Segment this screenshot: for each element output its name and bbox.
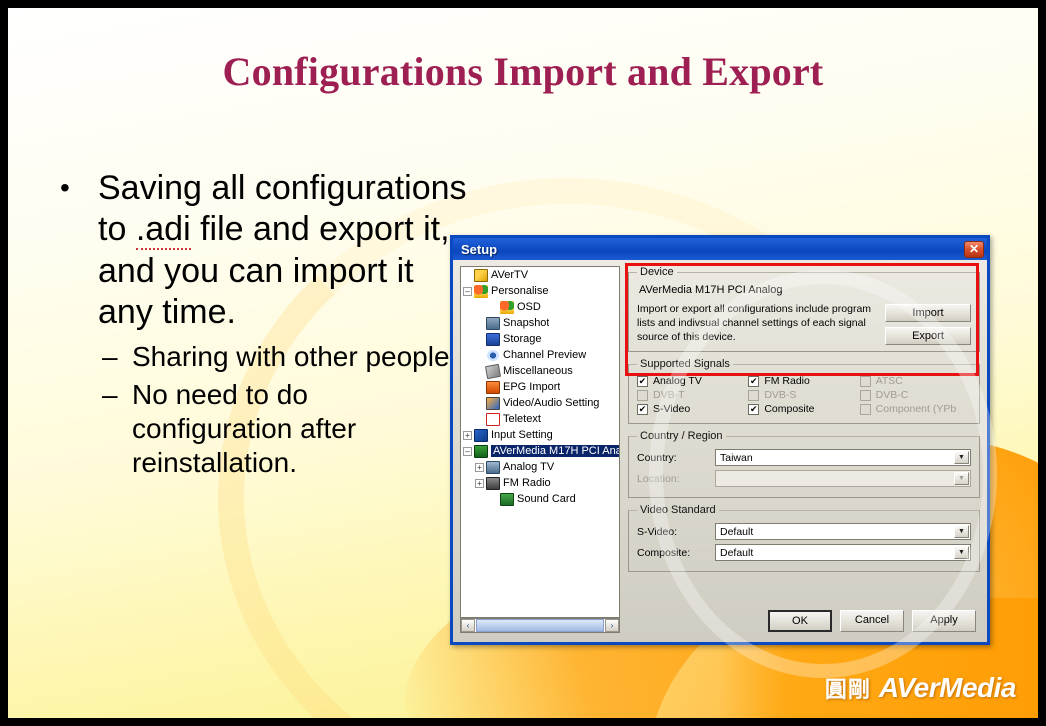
signal-label: Composite xyxy=(764,403,814,415)
sub-bullet-text: No need to do configuration after reinst… xyxy=(132,378,470,480)
signal-checkbox-component-ypb: Component (YPb xyxy=(860,403,971,415)
tree-item-storage[interactable]: Storage xyxy=(461,331,619,347)
signal-row: DVB-TDVB-SDVB-C xyxy=(637,389,971,401)
tree-item-epg-import[interactable]: EPG Import xyxy=(461,379,619,395)
signal-label: ATSC xyxy=(876,375,903,387)
location-select: ▼ xyxy=(715,470,971,487)
bullet-marker: • xyxy=(60,168,98,334)
input-setting-icon xyxy=(474,429,488,442)
personalise-icon xyxy=(474,285,488,298)
signal-row: ✔S-Video✔CompositeComponent (YPb xyxy=(637,403,971,415)
checkbox-icon[interactable]: ✔ xyxy=(748,376,759,387)
signal-checkbox-fm-radio[interactable]: ✔FM Radio xyxy=(748,375,859,387)
checkbox-icon xyxy=(860,404,871,415)
signal-label: DVB-T xyxy=(653,389,685,401)
scrollbar-thumb[interactable] xyxy=(476,619,604,632)
device-group: Device AVerMedia M17H PCI Analog Import … xyxy=(628,266,980,352)
slide-title: Configurations Import and Export xyxy=(8,50,1038,94)
video-standard-legend: Video Standard xyxy=(637,504,719,516)
sub-bullet-item: – No need to do configuration after rein… xyxy=(102,378,470,480)
signal-row: ✔Analog TV✔FM RadioATSC xyxy=(637,375,971,387)
tree-item-label: Storage xyxy=(503,333,542,345)
scroll-right-icon[interactable]: › xyxy=(605,619,619,632)
device-row: Import or export all configurations incl… xyxy=(637,302,971,345)
dialog-footer-buttons: OK Cancel Apply xyxy=(768,610,976,632)
tree-item-label: AVerTV xyxy=(491,269,528,281)
composite-label: Composite: xyxy=(637,547,715,559)
country-select[interactable]: Taiwan ▼ xyxy=(715,449,971,466)
tree-item-analog-tv[interactable]: +Analog TV xyxy=(461,459,619,475)
location-label: Location: xyxy=(637,473,715,485)
signal-label: FM Radio xyxy=(764,375,810,387)
tree-item-avermedia-m17h-pci-analo[interactable]: –AVerMedia M17H PCI Analo xyxy=(461,443,619,459)
device-description: Import or export all configurations incl… xyxy=(637,302,875,345)
dialog-titlebar[interactable]: Setup ✕ xyxy=(453,238,987,260)
miscellaneous-icon xyxy=(485,363,501,378)
checkbox-icon[interactable]: ✔ xyxy=(637,376,648,387)
snapshot-icon xyxy=(486,317,500,330)
composite-row: Composite: Default ▼ xyxy=(637,544,971,561)
settings-panel: Device AVerMedia M17H PCI Analog Import … xyxy=(628,266,980,636)
tree-item-label: EPG Import xyxy=(503,381,560,393)
apply-button[interactable]: Apply xyxy=(912,610,976,632)
svideo-value: Default xyxy=(720,526,753,538)
signal-label: DVB-C xyxy=(876,389,909,401)
tree-expander-toggle[interactable]: + xyxy=(475,479,484,488)
tree-item-video-audio-setting[interactable]: Video/Audio Setting xyxy=(461,395,619,411)
tree-item-label: Channel Preview xyxy=(503,349,586,361)
tree-item-label: OSD xyxy=(517,301,541,313)
ok-button[interactable]: OK xyxy=(768,610,832,632)
composite-select[interactable]: Default ▼ xyxy=(715,544,971,561)
device-card-icon xyxy=(474,445,488,458)
bullet-text: Saving all configurations to .adi file a… xyxy=(98,168,470,334)
teletext-icon xyxy=(486,413,500,426)
tree-item-input-setting[interactable]: +Input Setting xyxy=(461,427,619,443)
chevron-down-icon[interactable]: ▼ xyxy=(954,451,969,464)
sub-bullet-text: Sharing with other people xyxy=(132,340,470,374)
import-button[interactable]: Import xyxy=(885,304,971,322)
svideo-label: S-Video: xyxy=(637,526,715,538)
tree-item-label: Teletext xyxy=(503,413,541,425)
tree-item-label: FM Radio xyxy=(503,477,551,489)
storage-icon xyxy=(486,333,500,346)
country-row: Country: Taiwan ▼ xyxy=(637,449,971,466)
tree-item-snapshot[interactable]: Snapshot xyxy=(461,315,619,331)
video-standard-group: Video Standard S-Video: Default ▼ Compos… xyxy=(628,504,980,572)
bullet-item: • Saving all configurations to .adi file… xyxy=(60,168,470,334)
sub-bullet-item: – Sharing with other people xyxy=(102,340,470,374)
dialog-title: Setup xyxy=(461,242,964,257)
tree-expander-toggle[interactable]: – xyxy=(463,447,472,456)
chevron-down-icon: ▼ xyxy=(954,472,969,485)
country-value: Taiwan xyxy=(720,452,753,464)
channel-preview-icon xyxy=(486,349,500,362)
cancel-button[interactable]: Cancel xyxy=(840,610,904,632)
tree-item-avertv[interactable]: AVerTV xyxy=(461,267,619,283)
signal-checkbox-atsc: ATSC xyxy=(860,375,971,387)
country-label: Country: xyxy=(637,452,715,464)
svideo-row: S-Video: Default ▼ xyxy=(637,523,971,540)
device-name: AVerMedia M17H PCI Analog xyxy=(639,284,971,296)
logo-wordmark: AVerMedia xyxy=(879,672,1016,704)
tree-item-channel-preview[interactable]: Channel Preview xyxy=(461,347,619,363)
checkbox-icon[interactable]: ✔ xyxy=(748,404,759,415)
signal-label: Analog TV xyxy=(653,375,702,387)
tree-item-label: Miscellaneous xyxy=(503,365,573,377)
analog-tv-icon xyxy=(486,461,500,474)
tree-item-sound-card[interactable]: Sound Card xyxy=(461,491,619,507)
supported-signals-legend: Supported Signals xyxy=(637,358,733,370)
setup-dialog: Setup ✕ AVerTV–PersonaliseOSDSnapshotSto… xyxy=(450,235,990,645)
checkbox-icon[interactable]: ✔ xyxy=(637,404,648,415)
sub-bullet-list: – Sharing with other people – No need to… xyxy=(102,340,470,481)
logo-cjk-text: 圓剛 xyxy=(825,672,871,704)
fm-radio-icon xyxy=(486,477,500,490)
signal-checkbox-dvb-s: DVB-S xyxy=(748,389,859,401)
tree-item-personalise[interactable]: –Personalise xyxy=(461,283,619,299)
epg-import-icon xyxy=(486,381,500,394)
signal-label: DVB-S xyxy=(764,389,796,401)
tree-item-label: Video/Audio Setting xyxy=(503,397,599,409)
slide-canvas: Configurations Import and Export • Savin… xyxy=(8,8,1038,718)
tree-expander-toggle[interactable]: + xyxy=(475,463,484,472)
location-row: Location: ▼ xyxy=(637,470,971,487)
dialog-body: AVerTV–PersonaliseOSDSnapshotStorageChan… xyxy=(453,260,987,642)
osd-icon xyxy=(500,301,514,314)
bullet-list: • Saving all configurations to .adi file… xyxy=(60,168,470,481)
tree-item-miscellaneous[interactable]: Miscellaneous xyxy=(461,363,619,379)
sub-bullet-marker: – xyxy=(102,340,132,374)
tree-item-label: Personalise xyxy=(491,285,548,297)
tree-item-fm-radio[interactable]: +FM Radio xyxy=(461,475,619,491)
tree-item-osd[interactable]: OSD xyxy=(461,299,619,315)
chevron-down-icon[interactable]: ▼ xyxy=(954,525,969,538)
sound-card-icon xyxy=(500,493,514,506)
country-region-group: Country / Region Country: Taiwan ▼ Locat… xyxy=(628,430,980,498)
signal-label: Component (YPb xyxy=(876,403,957,415)
svideo-select[interactable]: Default ▼ xyxy=(715,523,971,540)
signal-checkbox-dvb-c: DVB-C xyxy=(860,389,971,401)
tree-expander-toggle[interactable]: + xyxy=(463,431,472,440)
tree-item-label: Analog TV xyxy=(503,461,554,473)
signal-checkbox-dvb-t: DVB-T xyxy=(637,389,748,401)
settings-tree[interactable]: AVerTV–PersonaliseOSDSnapshotStorageChan… xyxy=(460,266,620,618)
composite-value: Default xyxy=(720,547,753,559)
country-region-legend: Country / Region xyxy=(637,430,726,442)
supported-signals-group: Supported Signals ✔Analog TV✔FM RadioATS… xyxy=(628,358,980,424)
checkbox-icon xyxy=(748,390,759,401)
avermedia-logo: 圓剛 AVerMedia xyxy=(825,672,1016,704)
tree-item-teletext[interactable]: Teletext xyxy=(461,411,619,427)
device-buttons: Import Export xyxy=(885,302,971,345)
supported-signals-grid: ✔Analog TV✔FM RadioATSCDVB-TDVB-SDVB-C✔S… xyxy=(637,375,971,415)
bullet-text-spellcheck: .adi xyxy=(136,210,191,250)
tree-item-label: Sound Card xyxy=(517,493,576,505)
tree-horizontal-scrollbar[interactable]: ‹ › xyxy=(460,618,620,633)
export-button[interactable]: Export xyxy=(885,327,971,345)
tree-item-label: Input Setting xyxy=(491,429,553,441)
tree-expander-toggle[interactable]: – xyxy=(463,287,472,296)
signal-label: S-Video xyxy=(653,403,690,415)
signal-checkbox-analog-tv[interactable]: ✔Analog TV xyxy=(637,375,748,387)
chevron-down-icon[interactable]: ▼ xyxy=(954,546,969,559)
video-audio-icon xyxy=(486,397,500,410)
sub-bullet-marker: – xyxy=(102,378,132,480)
tree-item-label: AVerMedia M17H PCI Analo xyxy=(491,445,619,457)
avertv-icon xyxy=(474,269,488,282)
signal-checkbox-s-video[interactable]: ✔S-Video xyxy=(637,403,748,415)
checkbox-icon xyxy=(637,390,648,401)
close-icon[interactable]: ✕ xyxy=(964,241,984,258)
scroll-left-icon[interactable]: ‹ xyxy=(461,619,475,632)
checkbox-icon xyxy=(860,390,871,401)
device-group-legend: Device xyxy=(637,266,677,278)
signal-checkbox-composite[interactable]: ✔Composite xyxy=(748,403,859,415)
tree-item-label: Snapshot xyxy=(503,317,549,329)
checkbox-icon xyxy=(860,376,871,387)
